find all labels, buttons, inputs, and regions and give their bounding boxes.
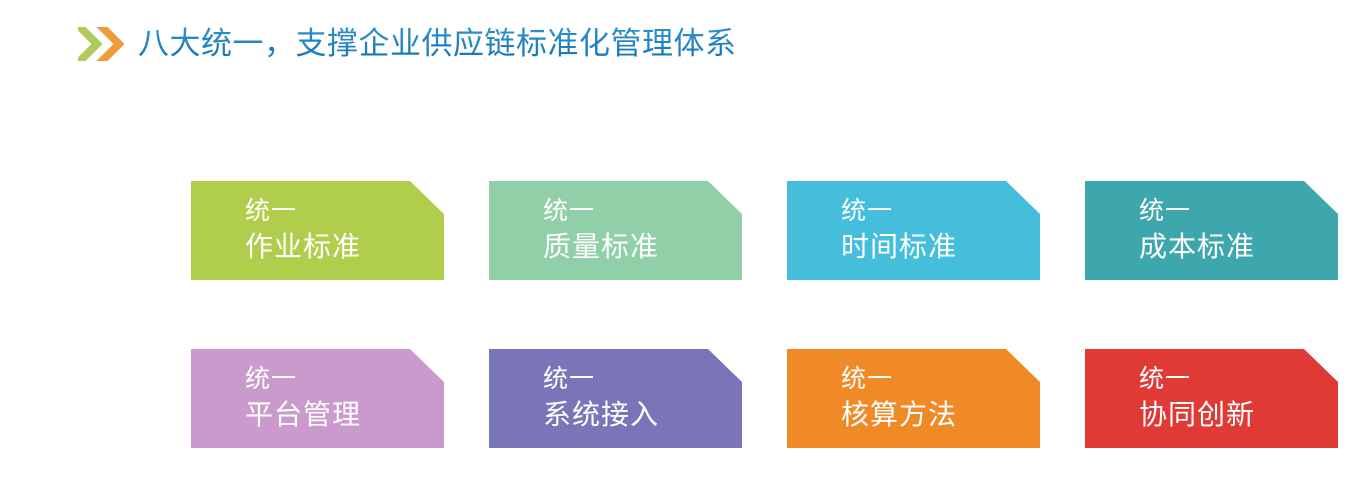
card-label: 统一 (1139, 362, 1338, 396)
unify-card-quality-standard[interactable]: 统一 质量标准 (489, 181, 742, 280)
card-label: 统一 (841, 362, 1040, 396)
unify-card-accounting-method[interactable]: 统一 核算方法 (787, 349, 1040, 448)
card-name: 成本标准 (1139, 228, 1338, 266)
card-label: 统一 (543, 194, 742, 228)
unify-card-time-standard[interactable]: 统一 时间标准 (787, 181, 1040, 280)
slide-header: 八大统一，支撑企业供应链标准化管理体系 (78, 18, 737, 70)
card-name: 作业标准 (245, 228, 444, 266)
chevron-second-icon (102, 29, 121, 59)
card-name: 质量标准 (543, 228, 742, 266)
double-chevron-icon (78, 27, 124, 61)
card-name: 核算方法 (841, 396, 1040, 434)
card-name: 系统接入 (543, 396, 742, 434)
unify-card-system-access[interactable]: 统一 系统接入 (489, 349, 742, 448)
unify-card-grid: 统一 作业标准 统一 质量标准 统一 时间标准 统一 成本标准 统一 平台管理 … (191, 181, 1339, 448)
unify-card-cost-standard[interactable]: 统一 成本标准 (1085, 181, 1338, 280)
unify-card-operation-standard[interactable]: 统一 作业标准 (191, 181, 444, 280)
card-label: 统一 (245, 194, 444, 228)
card-label: 统一 (245, 362, 444, 396)
card-name: 协同创新 (1139, 396, 1338, 434)
card-name: 时间标准 (841, 228, 1040, 266)
chevron-first-icon (80, 29, 99, 59)
page-title: 八大统一，支撑企业供应链标准化管理体系 (138, 25, 737, 63)
card-label: 统一 (543, 362, 742, 396)
unify-card-collaborative-innovation[interactable]: 统一 协同创新 (1085, 349, 1338, 448)
unify-card-platform-management[interactable]: 统一 平台管理 (191, 349, 444, 448)
card-name: 平台管理 (245, 396, 444, 434)
card-label: 统一 (1139, 194, 1338, 228)
card-label: 统一 (841, 194, 1040, 228)
